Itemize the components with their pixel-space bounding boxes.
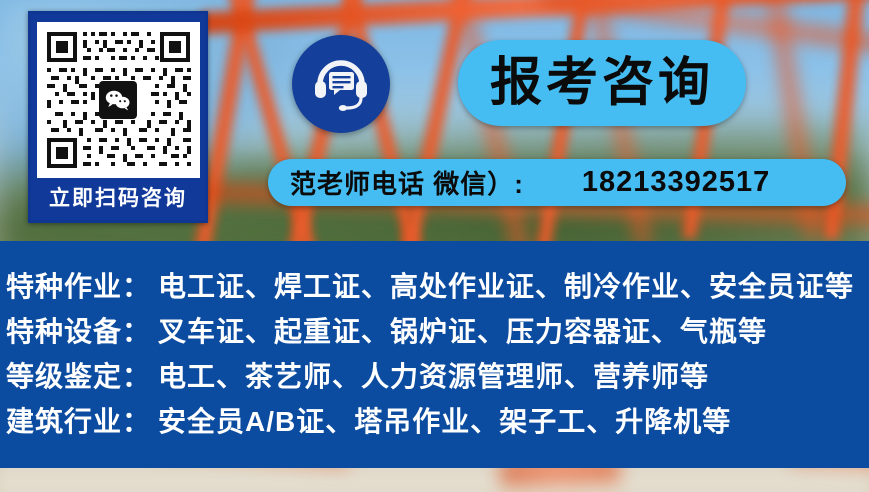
wechat-icon <box>99 81 137 119</box>
info-row-label: 特种作业： <box>6 265 158 305</box>
info-row: 等级鉴定： 电工、茶艺师、人力资源管理师、营养师等 <box>6 355 869 400</box>
info-row-value: 安全员A/B证、塔吊作业、架子工、升降机等 <box>158 400 731 440</box>
certificate-categories-panel: 特种作业： 电工证、焊工证、高处作业证、制冷作业、安全员证等 特种设备： 叉车证… <box>0 241 869 468</box>
phone-pill[interactable]: 范老师电话 微信）: 18213392517 <box>268 159 846 206</box>
info-row: 特种设备： 叉车证、起重证、锅炉证、压力容器证、气瓶等 <box>6 310 869 355</box>
phone-number[interactable]: 18213392517 <box>582 166 770 199</box>
qr-code-card[interactable]: 立即扫码咨询 <box>28 11 208 223</box>
info-row: 建筑行业： 安全员A/B证、塔吊作业、架子工、升降机等 <box>6 400 869 445</box>
info-row-label: 特种设备： <box>6 310 158 350</box>
headset-support-badge[interactable] <box>292 35 390 133</box>
title-pill-label: 报考咨询 <box>490 57 714 109</box>
info-row: 特种作业： 电工证、焊工证、高处作业证、制冷作业、安全员证等 <box>6 265 869 310</box>
info-row-value: 叉车证、起重证、锅炉证、压力容器证、气瓶等 <box>158 310 767 350</box>
headset-support-icon <box>312 56 370 112</box>
promo-banner: 立即扫码咨询 报考咨询 范老师电话 微信）: 18213392517 <box>0 0 869 492</box>
qr-code-icon[interactable] <box>37 22 200 178</box>
title-pill[interactable]: 报考咨询 <box>458 40 746 126</box>
qr-card-caption: 立即扫码咨询 <box>49 188 187 209</box>
info-row-value: 电工证、焊工证、高处作业证、制冷作业、安全员证等 <box>158 265 854 305</box>
phone-pill-label: 范老师电话 微信）: <box>290 164 524 201</box>
info-row-label: 建筑行业： <box>6 400 158 440</box>
info-row-label: 等级鉴定： <box>6 355 158 395</box>
info-row-value: 电工、茶艺师、人力资源管理师、营养师等 <box>158 355 709 395</box>
